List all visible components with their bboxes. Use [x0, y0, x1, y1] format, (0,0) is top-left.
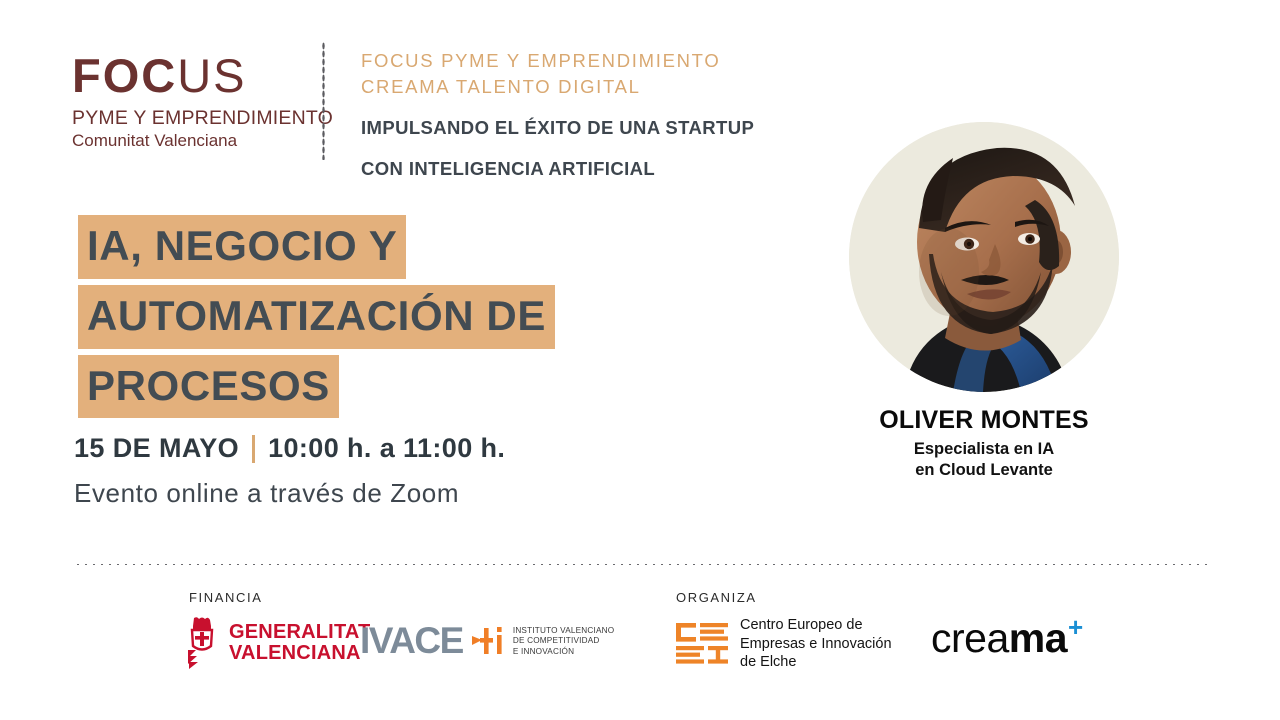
- generalitat-wordmark: GENERALITAT VALENCIANA: [229, 622, 370, 664]
- vertical-dotted-divider: [322, 42, 325, 160]
- event-poster: FOCUS PYME Y EMPRENDIMIENTO Comunitat Va…: [0, 0, 1280, 720]
- organiza-label: ORGANIZA: [676, 590, 757, 605]
- speaker-portrait-illustration: [849, 122, 1119, 392]
- title-line-text: AUTOMATIZACIÓN DE: [78, 285, 555, 349]
- event-date: 15 DE MAYO: [74, 433, 239, 464]
- title-line: IA, NEGOCIO Y: [78, 215, 555, 279]
- header-kicker-line-1: FOCUS PYME Y EMPRENDIMIENTO: [361, 48, 881, 74]
- ceei-tagline-line-2: Empresas e Innovación: [740, 635, 892, 654]
- header-headline-line-2: CON INTELIGENCIA ARTIFICIAL: [361, 156, 881, 181]
- focus-wordmark: FOCUS: [72, 52, 297, 99]
- ceei-logo: Centro Europeo de Empresas e Innovación …: [674, 616, 892, 672]
- creama-wordmark-light: crea: [931, 615, 1009, 661]
- ivace-plus-i-icon: [471, 626, 505, 656]
- creama-wordmark: creama: [931, 618, 1067, 659]
- header-text-block: FOCUS PYME Y EMPRENDIMIENTO CREAMA TALEN…: [361, 48, 881, 182]
- title-line: PROCESOS: [78, 355, 555, 419]
- speaker-role-line-1: Especialista en IA: [845, 439, 1123, 460]
- ivace-tagline-line-1: INSTITUTO VALENCIANO: [513, 626, 615, 636]
- ivace-tagline-line-3: E INNOVACIÓN: [513, 647, 615, 657]
- generalitat-line-1: GENERALITAT: [229, 622, 370, 643]
- focus-wordmark-bold: FOC: [72, 49, 177, 102]
- generalitat-valenciana-logo: GENERALITAT VALENCIANA: [184, 616, 370, 670]
- title-line-text: IA, NEGOCIO Y: [78, 215, 406, 279]
- speaker-name: OLIVER MONTES: [845, 406, 1123, 435]
- ivace-wordmark: IVACE: [360, 622, 463, 659]
- speaker-role: Especialista en IA en Cloud Levante: [845, 439, 1123, 481]
- speaker-block: OLIVER MONTES Especialista en IA en Clou…: [845, 122, 1123, 481]
- title-line-text: PROCESOS: [78, 355, 339, 419]
- speaker-role-line-2: en Cloud Levante: [845, 460, 1123, 481]
- event-time: 10:00 h. a 11:00 h.: [268, 433, 505, 464]
- generalitat-line-2: VALENCIANA: [229, 643, 370, 664]
- ivace-tagline: INSTITUTO VALENCIANO DE COMPETITIVIDAD E…: [513, 624, 615, 657]
- ceei-tagline-line-1: Centro Europeo de: [740, 616, 892, 635]
- ceei-mark-icon: [674, 621, 730, 667]
- creama-plus-icon: +: [1068, 614, 1083, 640]
- horizontal-dotted-divider: [74, 563, 1207, 566]
- page-title: IA, NEGOCIO Y AUTOMATIZACIÓN DE PROCESOS: [78, 215, 555, 424]
- focus-subtitle-secondary: Comunitat Valenciana: [72, 131, 297, 151]
- creama-wordmark-bold: ma: [1009, 615, 1067, 661]
- focus-wordmark-light: US: [177, 49, 246, 102]
- event-modality: Evento online a través de Zoom: [74, 478, 459, 509]
- header-headline-line-1: IMPULSANDO EL ÉXITO DE UNA STARTUP: [361, 115, 881, 140]
- financia-label: FINANCIA: [189, 590, 262, 605]
- ivace-logo: IVACE INSTITUTO VALENCIANO DE COMPETITIV…: [360, 622, 614, 659]
- creama-logo: creama +: [931, 618, 1083, 659]
- speaker-avatar: [849, 122, 1119, 392]
- ivace-tagline-line-2: DE COMPETITIVIDAD: [513, 636, 615, 646]
- header-kicker-line-2: CREAMA TALENTO DIGITAL: [361, 74, 881, 100]
- ceei-tagline-line-3: de Elche: [740, 653, 892, 672]
- focus-logo: FOCUS PYME Y EMPRENDIMIENTO Comunitat Va…: [72, 52, 297, 151]
- generalitat-shield-icon: [184, 616, 220, 670]
- focus-subtitle-primary: PYME Y EMPRENDIMIENTO: [72, 107, 297, 130]
- title-line: AUTOMATIZACIÓN DE: [78, 285, 555, 349]
- event-datetime: 15 DE MAYO 10:00 h. a 11:00 h.: [74, 433, 505, 464]
- datetime-separator: [252, 435, 255, 463]
- ceei-tagline: Centro Europeo de Empresas e Innovación …: [740, 616, 892, 672]
